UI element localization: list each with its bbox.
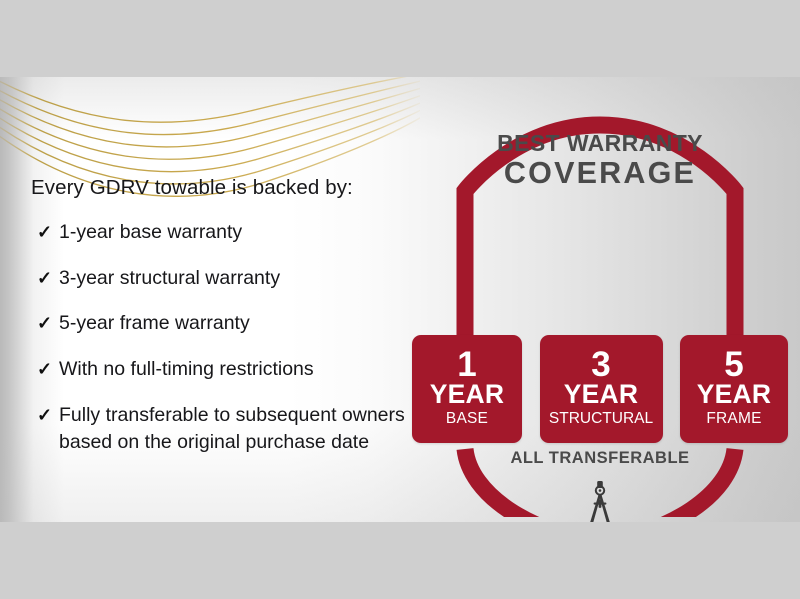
warranty-copy-block: Every GDRV towable is backed by: ✓ 1-yea… <box>31 176 431 457</box>
warranty-box-number: 1 <box>457 349 476 381</box>
check-icon: ✓ <box>37 311 52 337</box>
warranty-box-number: 5 <box>724 349 743 381</box>
warranty-box-label: FRAME <box>706 410 761 427</box>
drafting-compass-icon <box>578 480 622 522</box>
warranty-badge: BEST WARRANTY COVERAGE 1 YEAR BASE 3 YEA… <box>400 97 800 517</box>
warranty-box-unit: YEAR <box>564 381 638 408</box>
list-item: ✓ Fully transferable to subsequent owner… <box>31 402 431 457</box>
list-item: ✓ 3-year structural warranty <box>31 265 431 293</box>
warranty-box-structural: 3 YEAR STRUCTURAL <box>540 335 663 443</box>
warranty-graphic: Every GDRV towable is backed by: ✓ 1-yea… <box>0 77 800 522</box>
list-item-label: Fully transferable to subsequent owners … <box>59 402 431 457</box>
check-icon: ✓ <box>37 403 52 429</box>
badge-heading-line1: BEST WARRANTY <box>400 132 800 155</box>
list-item: ✓ 5-year frame warranty <box>31 310 431 338</box>
warranty-box-unit: YEAR <box>430 381 504 408</box>
list-item-label: 3-year structural warranty <box>59 265 431 293</box>
list-item: ✓ With no full-timing restrictions <box>31 356 431 384</box>
warranty-box-label: STRUCTURAL <box>549 410 653 427</box>
list-item-label: With no full-timing restrictions <box>59 356 431 384</box>
warranty-bullet-list: ✓ 1-year base warranty ✓ 3-year structur… <box>31 219 431 457</box>
warranty-box-frame: 5 YEAR FRAME <box>680 335 788 443</box>
warranty-term-boxes: 1 YEAR BASE 3 YEAR STRUCTURAL 5 YEAR FRA… <box>412 335 788 443</box>
warranty-box-number: 3 <box>591 349 610 381</box>
badge-heading-line2: COVERAGE <box>400 157 800 190</box>
badge-footer-text: ALL TRANSFERABLE <box>400 449 800 468</box>
check-icon: ✓ <box>37 357 52 383</box>
list-item-label: 1-year base warranty <box>59 219 431 247</box>
list-item: ✓ 1-year base warranty <box>31 219 431 247</box>
warranty-box-unit: YEAR <box>697 381 771 408</box>
page-title: Every GDRV towable is backed by: <box>31 176 431 200</box>
check-icon: ✓ <box>37 266 52 292</box>
warranty-box-label: BASE <box>446 410 488 427</box>
check-icon: ✓ <box>37 220 52 246</box>
screenshot-stage: Every GDRV towable is backed by: ✓ 1-yea… <box>0 0 800 599</box>
badge-heading: BEST WARRANTY COVERAGE <box>400 132 800 190</box>
list-item-label: 5-year frame warranty <box>59 310 431 338</box>
